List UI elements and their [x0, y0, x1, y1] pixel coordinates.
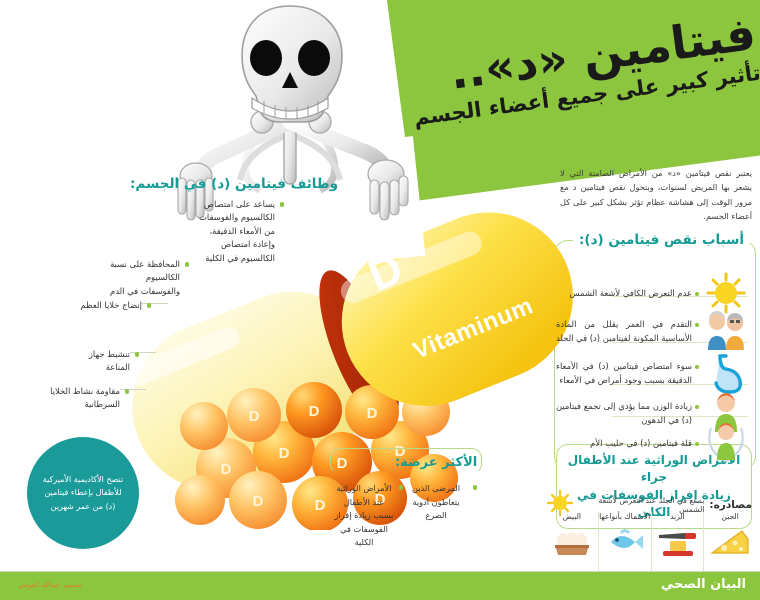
cause-text: عدم التعرض الكافي لأشعة الشمس — [556, 286, 699, 300]
food-item-cheese: الجبن — [703, 512, 756, 574]
svg-text:D: D — [249, 408, 260, 425]
recommendation-badge: تنصح الأكاديمية الأميركية للأطفال بإعطاء… — [27, 437, 139, 549]
eggs-icon — [550, 523, 594, 561]
footer-credit: تصميم: عبدالله العوضي — [18, 581, 82, 589]
bullet — [280, 202, 285, 207]
svg-text:D: D — [279, 445, 290, 462]
function-item-3: إنضاج خلايا العظم — [80, 299, 142, 312]
cause-text: قلة فيتامين (د) في حليب الأم — [556, 436, 699, 450]
sources-label: مصادره: — [709, 499, 752, 511]
footer-logo: البيان الصحي — [661, 577, 746, 592]
function-text: مقاومة نشاط الخلايا السرطانية — [50, 386, 120, 409]
functions-heading: وظائف فيتامين (د) في الجسم: — [130, 176, 338, 192]
function-text: إنضاج خلايا العظم — [80, 300, 142, 310]
function-item-2: المحافظة على نسبة الكالسيوم والفوسفات في… — [108, 258, 180, 298]
stomach-icon — [704, 352, 748, 394]
causes-heading: أسباب نقص فيتامين (د): — [573, 232, 750, 248]
svg-text:D: D — [309, 403, 320, 420]
susceptible-text: الأمراض الوراثية عند الأطفال بسبب زيادة … — [335, 483, 394, 547]
food-label: الزبد — [670, 512, 685, 521]
cause-text: التقدم في العمر يقلل من المادة الأساسية … — [556, 317, 699, 346]
cause-text: سوء امتصاص فيتامين (د) في الأمعاء الدقيق… — [556, 359, 699, 388]
food-item-eggs: البيض — [546, 512, 598, 574]
bullet — [399, 485, 404, 490]
svg-text:D: D — [221, 461, 232, 478]
cheese-icon — [708, 523, 752, 561]
sun-icon — [704, 272, 748, 314]
function-item-5: مقاومة نشاط الخلايا السرطانية — [48, 385, 120, 412]
jump-rope-icon — [704, 422, 748, 464]
susceptible-item-2: الأمراض الوراثية عند الأطفال بسبب زيادة … — [333, 482, 395, 550]
intro-paragraph: يعتبر نقص فيتامين «د» من الأمراض الصامتة… — [560, 166, 752, 223]
food-item-fish: الأسماك بأنواعها — [598, 512, 651, 574]
infographic-canvas: فيتامين «د».. تأثير كبير على جميع أعضاء … — [0, 0, 760, 600]
butter-icon — [655, 523, 699, 561]
footer-bar: البيان الصحي تصميم: عبدالله العوضي — [0, 572, 760, 600]
susceptible-item-1: المرضى الذين يتعاطون أدوية الصرع — [403, 482, 469, 523]
bullet — [147, 303, 152, 308]
svg-text:D: D — [367, 405, 378, 422]
bullet — [135, 352, 140, 357]
fish-icon — [603, 523, 647, 561]
food-item-butter: الزبد — [651, 512, 704, 574]
cause-row-aging: التقدم في العمر يقلل من المادة الأساسية … — [556, 310, 748, 352]
function-text: تنشيط جهاز المناعة — [89, 349, 130, 372]
susceptible-text: المرضى الذين يتعاطون أدوية الصرع — [412, 483, 460, 520]
cause-row-absorption: سوء امتصاص فيتامين (د) في الأمعاء الدقيق… — [556, 352, 748, 394]
svg-text:D: D — [315, 497, 326, 514]
bullet — [125, 389, 130, 394]
food-label: الجبن — [721, 512, 738, 521]
function-text: يساعد على امتصاص الكالسيوم والفوسفات من … — [199, 199, 275, 263]
food-sources-strip: الجبن الزبد الأس — [546, 512, 756, 574]
food-label: البيض — [563, 512, 581, 521]
function-item-4: تنشيط جهاز المناعة — [68, 348, 130, 375]
badge-text: تنصح الأكاديمية الأميركية للأطفال بإعطاء… — [27, 473, 139, 513]
skeleton-illustration — [150, 0, 440, 330]
bullet — [473, 485, 478, 490]
cause-row-sun: عدم التعرض الكافي لأشعة الشمس — [556, 272, 748, 314]
function-item-1: يساعد على امتصاص الكالسيوم والفوسفات من … — [197, 198, 275, 265]
food-label: الأسماك بأنواعها — [599, 512, 650, 521]
elderly-couple-icon — [704, 310, 748, 352]
function-text: المحافظة على نسبة الكالسيوم والفوسفات في… — [110, 259, 180, 296]
svg-text:D: D — [253, 493, 264, 510]
bullet — [185, 262, 190, 267]
cause-row-breastmilk: قلة فيتامين (د) في حليب الأم — [556, 422, 748, 464]
susceptible-heading: الأكثر عرضة: — [395, 455, 477, 470]
